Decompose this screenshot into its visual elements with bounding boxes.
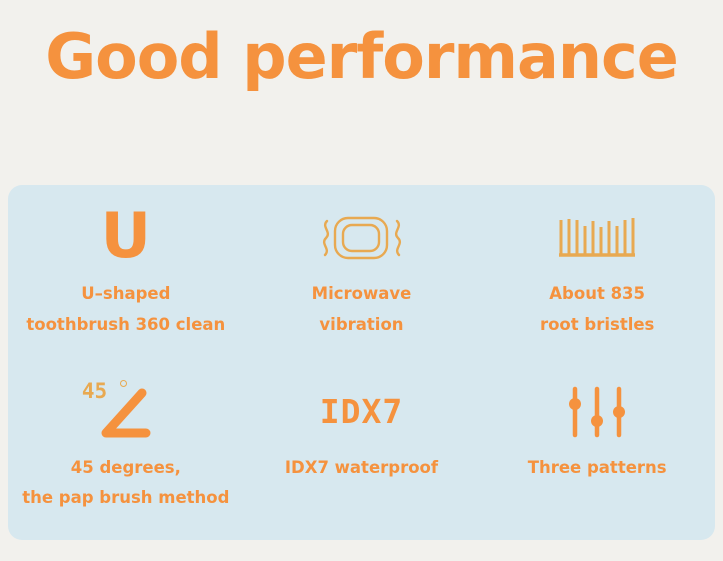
angle-45-degrees-icon-box: 45	[80, 381, 172, 443]
angle-shape-icon	[80, 381, 172, 443]
feature-item-45-degrees: 45 45 degrees, the pap brush method	[8, 363, 244, 541]
feature-caption-line1: 45 degrees,	[71, 458, 181, 477]
feature-caption-line2: the pap brush method	[22, 483, 229, 514]
feature-item-microwave-vibration: Microwave vibration	[244, 185, 480, 363]
feature-caption-three-patterns: Three patterns	[528, 453, 667, 484]
microwave-vibration-icon	[307, 210, 415, 266]
angle-45-degrees-icon: 45	[80, 381, 172, 443]
feature-caption-line1: About 835	[549, 284, 645, 303]
u-shape-icon: U	[101, 205, 151, 267]
feature-caption-line2: toothbrush 360 clean	[26, 310, 225, 341]
feature-item-idx7-waterproof: IDX7 IDX7 waterproof	[244, 363, 480, 541]
feature-caption-line1: U–shaped	[81, 284, 170, 303]
feature-item-root-bristles: About 835 root bristles	[479, 185, 715, 363]
feature-caption-line1: IDX7 waterproof	[285, 458, 438, 477]
features-card: U U–shaped toothbrush 360 clean	[8, 185, 715, 540]
idx7-icon-box: IDX7	[320, 381, 403, 443]
idx7-waterproof-icon: IDX7	[320, 395, 403, 428]
feature-caption-line1: Microwave	[312, 284, 412, 303]
feature-caption-line2: root bristles	[540, 310, 654, 341]
features-grid: U U–shaped toothbrush 360 clean	[8, 185, 715, 540]
feature-caption-idx7-waterproof: IDX7 waterproof	[285, 453, 438, 484]
microwave-vibration-icon-box	[307, 207, 415, 269]
feature-caption-line1: Three patterns	[528, 458, 667, 477]
feature-caption-microwave-vibration: Microwave vibration	[312, 279, 412, 340]
bristles-icon	[551, 211, 643, 265]
feature-caption-root-bristles: About 835 root bristles	[540, 279, 654, 340]
feature-caption-45-degrees: 45 degrees, the pap brush method	[22, 453, 229, 514]
three-patterns-slider-icon	[561, 383, 633, 441]
feature-item-u-shaped: U U–shaped toothbrush 360 clean	[8, 185, 244, 363]
page-title: Good performance	[45, 26, 678, 88]
feature-item-three-patterns: Three patterns	[479, 363, 715, 541]
promo-page: Good performance U U–shaped toothbrush 3…	[0, 0, 723, 561]
u-shape-icon-box: U	[101, 207, 151, 269]
feature-caption-u-shaped: U–shaped toothbrush 360 clean	[26, 279, 225, 340]
page-title-container: Good performance	[0, 12, 723, 102]
three-patterns-icon-box	[561, 381, 633, 443]
feature-caption-line2: vibration	[312, 310, 412, 341]
bristles-icon-box	[551, 207, 643, 269]
